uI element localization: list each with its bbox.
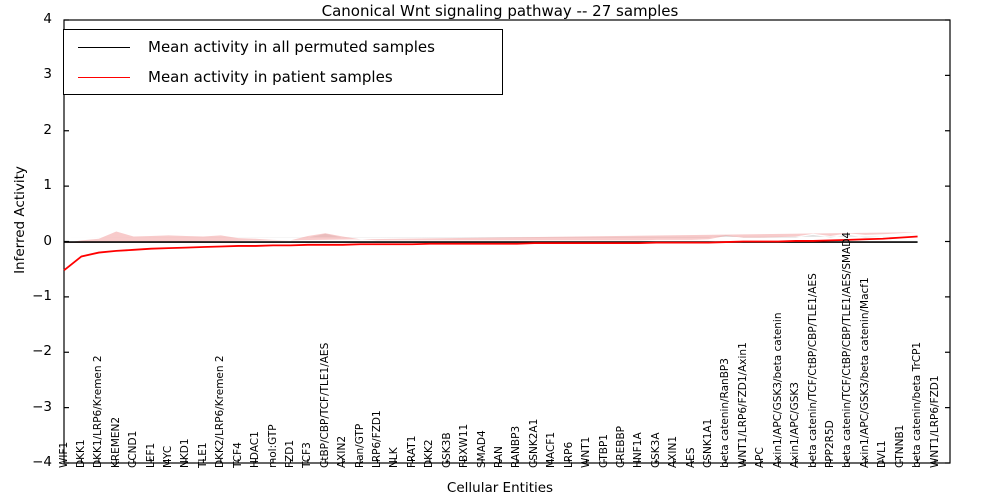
- legend-entry-patient: Mean activity in patient samples: [64, 62, 393, 92]
- chart-figure: Canonical Wnt signaling pathway -- 27 sa…: [0, 0, 1000, 500]
- x-tick-label: GSK3B: [442, 432, 452, 468]
- x-tick-label: KREMEN2: [111, 417, 121, 468]
- x-tick-label: WNT1: [581, 437, 591, 468]
- x-tick-label: HNF1A: [633, 432, 643, 468]
- x-tick-label: Axin1/APC/GSK3: [790, 382, 800, 468]
- x-tick-label: DVL1: [877, 440, 887, 468]
- x-tick-label: TCF3: [302, 442, 312, 468]
- x-tick-label: CtBP/CBP/TCF/TLE1/AES: [320, 343, 330, 468]
- legend-swatch-patient: [78, 77, 130, 78]
- x-tick-label: CTNNB1: [895, 425, 905, 468]
- x-tick-label: AES: [686, 448, 696, 468]
- x-tick-label: WNT1/LRP6/FZD1/Axin1: [738, 342, 748, 468]
- x-tick-label: beta catenin/RanBP3: [720, 358, 730, 468]
- x-tick-label: beta catenin/TCF/CtBP/CBP/TLE1/AES/SMAD4: [842, 232, 852, 468]
- x-tick-label: DKK2/LRP6/Kremen 2: [215, 355, 225, 468]
- x-tick-label: Ran/GTP: [355, 424, 365, 468]
- x-tick-label: APC: [755, 447, 765, 468]
- x-tick-label: GSK3A: [651, 432, 661, 468]
- x-tick-label: WNT1/LRP6/FZD1: [930, 375, 940, 468]
- x-tick-label: AXIN1: [668, 436, 678, 468]
- legend-label-permuted: Mean activity in all permuted samples: [148, 38, 435, 56]
- x-tick-label: beta catenin/TCF/CtBP/CBP/TLE1/AES: [808, 273, 818, 468]
- x-tick-label: WIF1: [59, 442, 69, 468]
- x-tick-label: RANBP3: [511, 426, 521, 468]
- x-tick-label: FBXW11: [459, 424, 469, 468]
- chart-legend: Mean activity in all permuted samples Me…: [63, 29, 503, 95]
- x-tick-label: CCND1: [128, 431, 138, 468]
- x-tick-label: LEF1: [146, 443, 156, 468]
- x-tick-label: CSNK2A1: [529, 419, 539, 468]
- x-tick-label: beta catenin/beta TrCP1: [912, 342, 922, 468]
- legend-label-patient: Mean activity in patient samples: [148, 68, 393, 86]
- x-tick-label: DKK1: [76, 439, 86, 468]
- x-tick-label: AXIN2: [337, 436, 347, 468]
- x-tick-label: HDAC1: [250, 431, 260, 468]
- x-tick-label: NKD1: [180, 438, 190, 468]
- x-tick-label: LRP6/FZD1: [372, 410, 382, 468]
- x-tick-label: LRP6: [564, 442, 574, 468]
- x-tick-label: FRAT1: [407, 436, 417, 468]
- x-tick-label: TCF4: [233, 442, 243, 468]
- x-tick-label: DKK2: [424, 439, 434, 468]
- x-tick-label: Axin1/APC/GSK3/beta catenin/Macf1: [860, 277, 870, 468]
- x-tick-label: DKK1/LRP6/Kremen 2: [93, 355, 103, 468]
- x-tick-label: CSNK1A1: [703, 419, 713, 468]
- x-tick-label: FZD1: [285, 440, 295, 468]
- x-tick-label: MACF1: [546, 432, 556, 468]
- x-tick-label: Axin1/APC/GSK3/beta catenin: [773, 312, 783, 468]
- x-tick-label: mol:GTP: [268, 424, 278, 468]
- x-tick-label: TLE1: [198, 442, 208, 468]
- x-tick-label: CREBBP: [616, 426, 626, 468]
- legend-swatch-permuted: [78, 47, 130, 48]
- x-tick-label: PPP2R5D: [825, 420, 835, 468]
- x-tick-label: SMAD4: [477, 430, 487, 468]
- x-tick-label: NLK: [389, 447, 399, 468]
- x-tick-label: MYC: [163, 446, 173, 468]
- legend-entry-permuted: Mean activity in all permuted samples: [64, 32, 435, 62]
- x-tick-label: CTBP1: [599, 434, 609, 468]
- x-tick-label: RAN: [494, 446, 504, 468]
